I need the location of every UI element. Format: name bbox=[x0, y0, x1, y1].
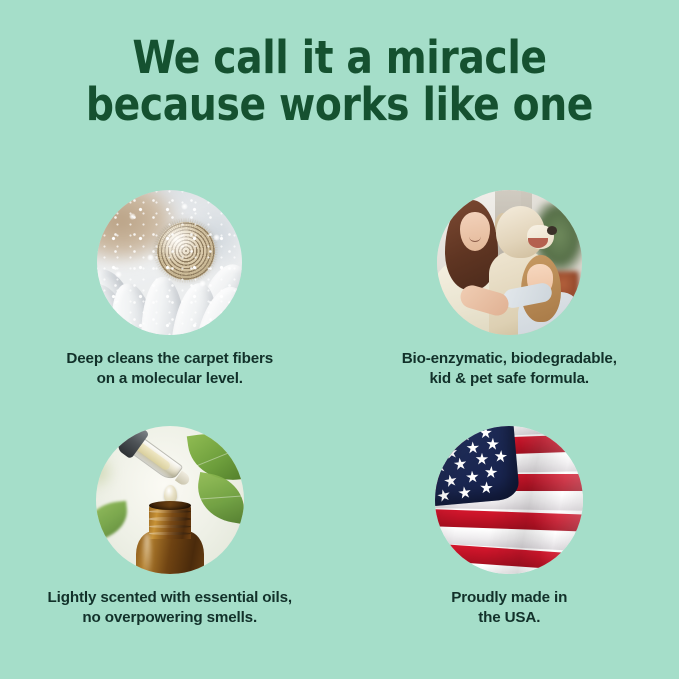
amber-bottle bbox=[136, 503, 204, 574]
headline-line-1: We call it a miracle bbox=[10, 34, 669, 81]
sparkle-overlay bbox=[97, 190, 242, 335]
bottle-thread bbox=[149, 525, 191, 529]
oil-droplet bbox=[164, 485, 177, 503]
leaf-vein bbox=[197, 447, 244, 467]
sparkle-icon bbox=[213, 234, 220, 241]
benefit-caption: Lightly scented with essential oils, no … bbox=[48, 588, 292, 627]
benefits-grid: Deep cleans the carpet fibers on a molec… bbox=[0, 190, 679, 662]
sparkle-icon bbox=[199, 280, 206, 287]
bottle-thread bbox=[149, 510, 191, 514]
page-title: We call it a miracle because works like … bbox=[10, 34, 669, 128]
benefit-essential-oils: Lightly scented with essential oils, no … bbox=[0, 426, 340, 662]
benefit-made-in-usa: Proudly made in the USA. bbox=[340, 426, 679, 662]
benefits-poster: We call it a miracle because works like … bbox=[0, 0, 679, 679]
benefit-carpet-fibers: Deep cleans the carpet fibers on a molec… bbox=[0, 190, 340, 426]
sparkle-icon bbox=[115, 271, 122, 278]
flag-wave-highlight bbox=[435, 426, 583, 574]
bottle-highlight bbox=[143, 533, 151, 574]
essential-oil-image bbox=[96, 426, 244, 574]
carpet-fibers-image bbox=[97, 190, 242, 335]
dog-nose bbox=[547, 226, 557, 235]
usa-flag-image bbox=[435, 426, 583, 574]
benefit-caption: Proudly made in the USA. bbox=[451, 588, 567, 627]
benefit-caption: Deep cleans the carpet fibers on a molec… bbox=[66, 349, 273, 388]
bottle-thread bbox=[149, 517, 191, 521]
benefit-kid-pet-safe: Bio-enzymatic, biodegradable, kid & pet … bbox=[340, 190, 679, 426]
leaf-icon bbox=[96, 501, 130, 541]
leaf-vein bbox=[200, 496, 242, 500]
family-pet-image bbox=[437, 190, 582, 335]
smile-icon bbox=[469, 236, 481, 242]
sparkle-icon bbox=[147, 254, 154, 261]
headline-line-2: because works like one bbox=[10, 81, 669, 128]
benefit-caption: Bio-enzymatic, biodegradable, kid & pet … bbox=[402, 349, 617, 388]
